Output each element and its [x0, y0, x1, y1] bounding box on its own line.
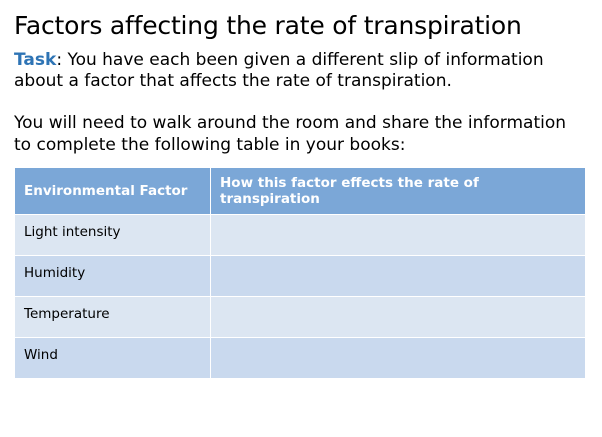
- table-cell-factor: Light intensity: [15, 214, 211, 255]
- task-label: Task: [14, 50, 56, 70]
- table-header-effect: How this factor effects the rate of tran…: [211, 167, 586, 214]
- table-cell-effect[interactable]: [211, 214, 586, 255]
- task-paragraph: Task: You have each been given a differe…: [14, 50, 574, 94]
- table-cell-factor: Temperature: [15, 296, 211, 337]
- page-title: Factors affecting the rate of transpirat…: [14, 12, 588, 40]
- table-row: Wind: [15, 337, 586, 378]
- table-cell-effect[interactable]: [211, 255, 586, 296]
- table-header-factor: Environmental Factor: [15, 167, 211, 214]
- task-separator: :: [56, 50, 67, 70]
- table-row: Light intensity: [15, 214, 586, 255]
- task-text: You have each been given a different sli…: [14, 50, 544, 92]
- factor-table: Environmental Factor How this factor eff…: [14, 167, 586, 379]
- table-cell-factor: Wind: [15, 337, 211, 378]
- table-row: Humidity: [15, 255, 586, 296]
- paragraph-spacer: [14, 99, 588, 113]
- table-cell-effect[interactable]: [211, 296, 586, 337]
- instruction-paragraph: You will need to walk around the room an…: [14, 113, 574, 157]
- table-header-row: Environmental Factor How this factor eff…: [15, 167, 586, 214]
- table-row: Temperature: [15, 296, 586, 337]
- table-cell-factor: Humidity: [15, 255, 211, 296]
- slide: Factors affecting the rate of transpirat…: [0, 0, 602, 437]
- table-cell-effect[interactable]: [211, 337, 586, 378]
